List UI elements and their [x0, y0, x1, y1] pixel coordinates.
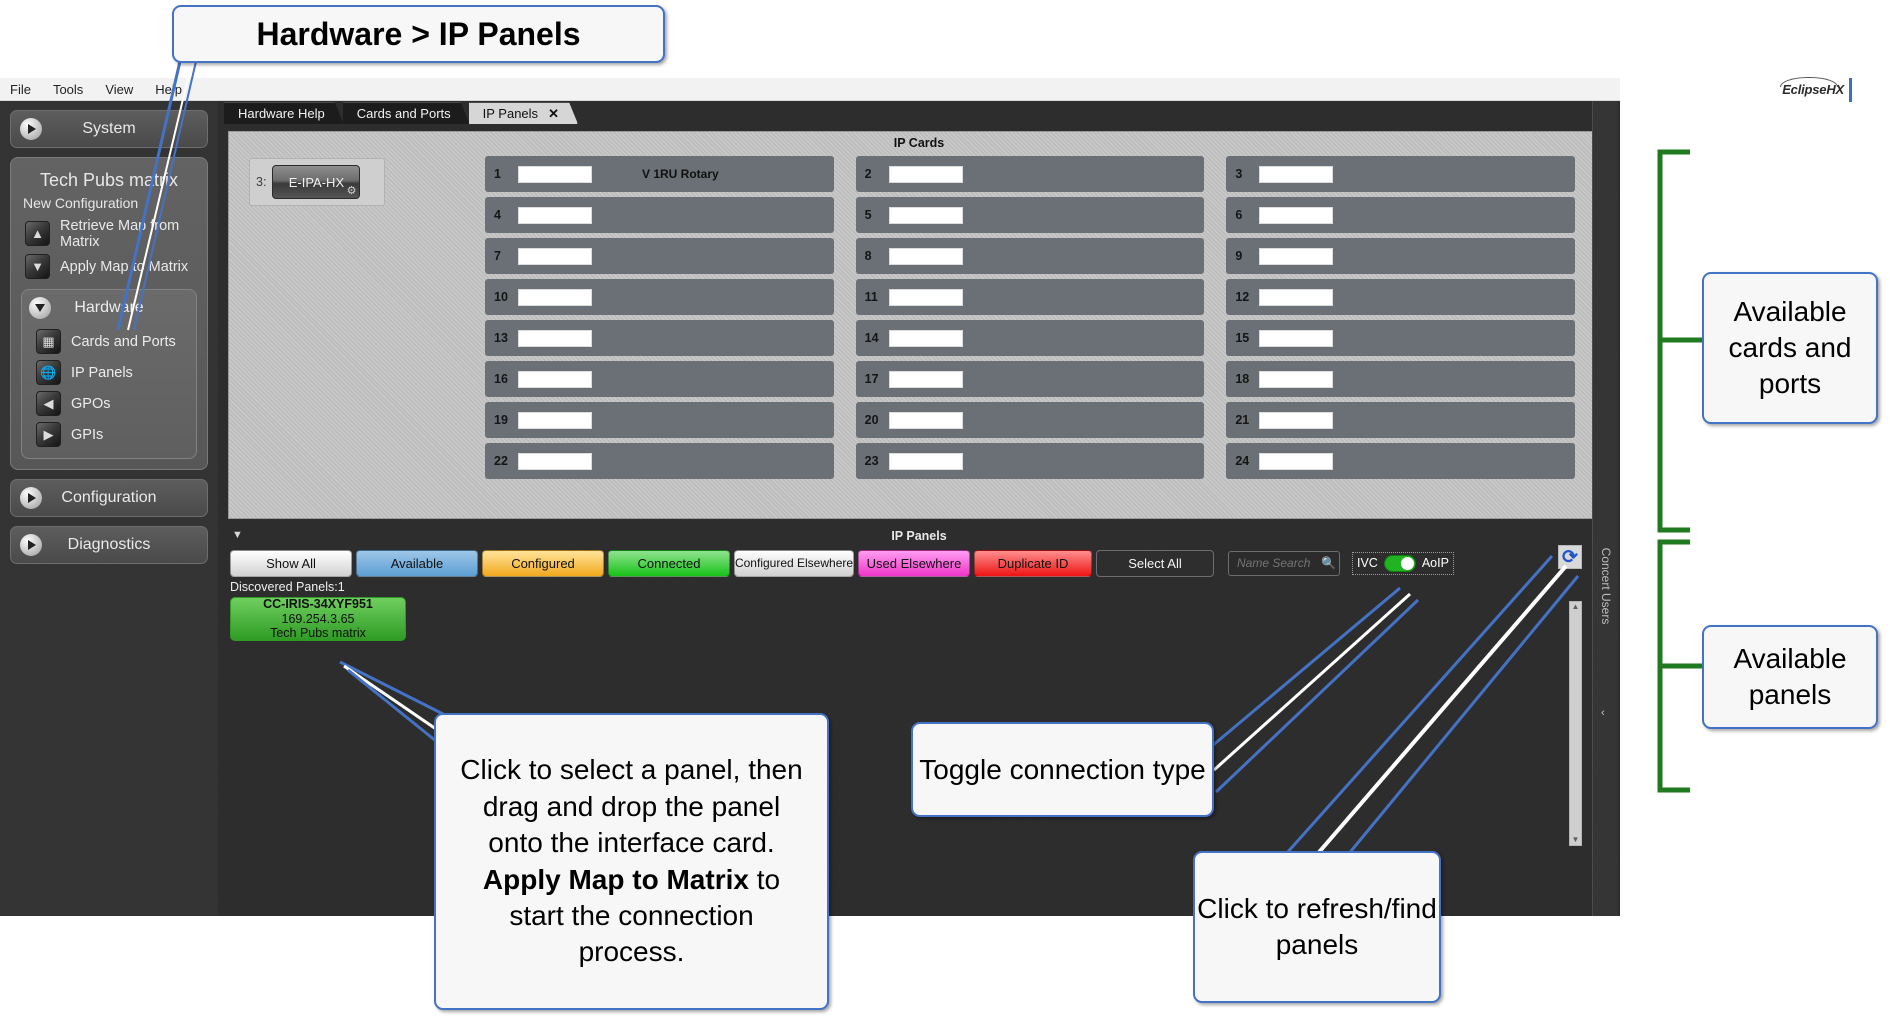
sidebar-item-apply-map[interactable]: ▼ Apply Map to Matrix	[11, 250, 207, 283]
port-slot[interactable]: 12	[1226, 279, 1575, 315]
sidebar-item-retrieve-map[interactable]: ▲ Retrieve Map from Matrix	[11, 217, 207, 250]
panel-name: CC-IRIS-34XYF951	[263, 597, 373, 611]
port-number: 18	[1235, 372, 1259, 386]
left-sidebar: System Tech Pubs matrix New Configuratio…	[0, 101, 218, 916]
port-name-field[interactable]	[889, 330, 963, 347]
menu-item-help[interactable]: Help	[155, 82, 182, 97]
callout-select-panel-text-bold: Apply Map to Matrix	[483, 864, 749, 895]
port-name-field[interactable]	[889, 412, 963, 429]
port-name-field[interactable]	[1259, 453, 1333, 470]
menu-item-view[interactable]: View	[105, 82, 133, 97]
port-slot[interactable]: 18	[1226, 361, 1575, 397]
callout-available-cards: Available cards and ports	[1702, 272, 1878, 424]
card-slot-number: 3:	[256, 175, 266, 189]
port-number: 22	[494, 454, 518, 468]
port-slot[interactable]: 22	[485, 443, 834, 479]
gear-icon[interactable]: ⚙	[347, 184, 357, 197]
sidebar-item-ip-panels-label: IP Panels	[71, 365, 133, 381]
filter-show-all-button[interactable]: Show All	[230, 550, 352, 577]
scroll-up-icon[interactable]: ▲	[1572, 602, 1580, 612]
expand-collapse-icon	[20, 487, 42, 509]
port-number: 15	[1235, 331, 1259, 345]
close-icon[interactable]: ✕	[548, 106, 559, 122]
connection-type-toggle[interactable]: IVC AoIP	[1352, 552, 1454, 575]
retrieve-map-icon: ▲	[25, 221, 50, 246]
ip-panels-toolbar: Show All Available Configured Connected …	[230, 549, 1610, 577]
cards-ports-icon: ▦	[36, 329, 61, 354]
port-slot[interactable]: 15	[1226, 320, 1575, 356]
port-slot[interactable]: 6	[1226, 197, 1575, 233]
select-all-button[interactable]: Select All	[1096, 550, 1214, 577]
port-number: 10	[494, 290, 518, 304]
port-name-field[interactable]	[1259, 248, 1333, 265]
port-number: 24	[1235, 454, 1259, 468]
port-number: 20	[865, 413, 889, 427]
menu-item-file[interactable]: File	[10, 82, 31, 97]
menu-item-tools[interactable]: Tools	[53, 82, 83, 97]
eclipsehx-logo: EclipseHX	[1782, 82, 1844, 97]
sidebar-item-cards-and-ports[interactable]: ▦ Cards and Ports	[22, 326, 196, 357]
apply-map-icon: ▼	[25, 254, 50, 279]
port-name-field[interactable]	[889, 166, 963, 183]
port-number: 7	[494, 249, 518, 263]
callout-refresh-panels: Click to refresh/find panels	[1193, 851, 1441, 1003]
port-name-field[interactable]	[1259, 207, 1333, 224]
expand-collapse-icon	[20, 534, 42, 556]
callout-select-panel-text-pre: Click to select a panel, then drag and d…	[460, 754, 802, 858]
tab-hardware-help[interactable]: Hardware Help	[224, 102, 344, 124]
port-name-field[interactable]	[518, 166, 592, 183]
tab-hardware-help-label: Hardware Help	[238, 106, 325, 121]
sidebar-item-apply-map-label: Apply Map to Matrix	[60, 259, 188, 275]
search-input[interactable]	[1235, 555, 1317, 571]
port-name-field[interactable]	[1259, 371, 1333, 388]
filter-configured-button[interactable]: Configured	[482, 550, 604, 577]
callout-breadcrumb: Hardware > IP Panels	[172, 5, 665, 63]
port-number: 19	[494, 413, 518, 427]
name-search-field[interactable]: 🔍	[1228, 551, 1340, 576]
tab-cards-and-ports[interactable]: Cards and Ports	[343, 102, 470, 124]
port-number: 9	[1235, 249, 1259, 263]
toggle-label-ivc: IVC	[1357, 556, 1378, 570]
port-slot[interactable]: 13	[485, 320, 834, 356]
tab-ip-panels[interactable]: IP Panels ✕	[469, 102, 578, 124]
gpi-icon: ▶	[36, 422, 61, 447]
filter-used-elsewhere-button[interactable]: Used Elsewhere	[858, 550, 970, 577]
matrix-title: Tech Pubs matrix	[11, 166, 207, 193]
port-name-field[interactable]	[889, 453, 963, 470]
switch-knob	[1401, 557, 1414, 570]
sidebar-section-configuration[interactable]: Configuration	[10, 479, 208, 517]
sidebar-section-diagnostics-label: Diagnostics	[68, 536, 151, 554]
gpo-icon: ◀	[36, 391, 61, 416]
sidebar-item-gpos-label: GPOs	[71, 396, 110, 412]
sidebar-item-retrieve-map-label: Retrieve Map from Matrix	[60, 218, 207, 250]
port-number: 13	[494, 331, 518, 345]
port-number: 21	[1235, 413, 1259, 427]
port-type-label: V 1RU Rotary	[642, 167, 719, 181]
port-name-field[interactable]	[889, 289, 963, 306]
port-slot[interactable]: 8	[856, 238, 1205, 274]
chevron-left-icon[interactable]: ‹	[1601, 707, 1605, 719]
port-slot[interactable]: 11	[856, 279, 1205, 315]
ip-cards-pane: IP Cards 3: E-IPA-HX ⚙ 1V 1RU Rotary2345…	[228, 131, 1610, 519]
matrix-group: Tech Pubs matrix New Configuration ▲ Ret…	[10, 157, 208, 470]
port-name-field[interactable]	[889, 207, 963, 224]
port-number: 11	[865, 290, 889, 304]
card-slot-container[interactable]: 3: E-IPA-HX ⚙	[249, 158, 385, 206]
bracket-available-panels	[1660, 542, 1690, 790]
sidebar-item-ip-panels[interactable]: 🌐 IP Panels	[22, 357, 196, 388]
sidebar-section-system-label: System	[82, 120, 135, 138]
tab-cards-and-ports-label: Cards and Ports	[357, 106, 451, 121]
menu-bar: File Tools View Help	[0, 78, 1620, 101]
concert-users-drawer[interactable]: Concert Users ‹	[1592, 101, 1618, 916]
sidebar-item-gpis[interactable]: ▶ GPIs	[22, 419, 196, 450]
callout-toggle-connection: Toggle connection type	[911, 722, 1214, 817]
filter-connected-button[interactable]: Connected	[608, 550, 730, 577]
sidebar-item-gpos[interactable]: ◀ GPOs	[22, 388, 196, 419]
port-number: 3	[1235, 167, 1259, 181]
callout-available-panels: Available panels	[1702, 625, 1878, 729]
port-slot[interactable]: 2	[856, 156, 1205, 192]
card-slot-name: E-IPA-HX	[289, 175, 344, 190]
ip-panels-title: IP Panels	[218, 529, 1620, 543]
panel-matrix-name: Tech Pubs matrix	[270, 626, 366, 640]
bracket-available-cards	[1660, 152, 1690, 530]
ip-cards-title: IP Cards	[229, 132, 1609, 150]
port-slot[interactable]: 5	[856, 197, 1205, 233]
port-slot[interactable]: 4	[485, 197, 834, 233]
expand-collapse-icon	[20, 118, 42, 140]
discovered-panel-card[interactable]: CC-IRIS-34XYF951 169.254.3.65 Tech Pubs …	[230, 597, 406, 641]
port-slot[interactable]: 19	[485, 402, 834, 438]
port-slot[interactable]: 1V 1RU Rotary	[485, 156, 834, 192]
ip-panels-scrollbar[interactable]: ▲ ▼	[1569, 601, 1582, 846]
port-name-field[interactable]	[518, 330, 592, 347]
port-number: 14	[865, 331, 889, 345]
filter-available-button[interactable]: Available	[356, 550, 478, 577]
port-number: 23	[865, 454, 889, 468]
port-number: 6	[1235, 208, 1259, 222]
sidebar-section-hardware-label: Hardware	[74, 299, 143, 317]
port-grid: 1V 1RU Rotary234567891011121314151617181…	[485, 156, 1575, 456]
sidebar-section-system[interactable]: System	[10, 110, 208, 148]
concert-users-label: Concert Users	[1599, 548, 1613, 625]
search-icon[interactable]: 🔍	[1321, 556, 1336, 570]
collapse-icon	[29, 297, 51, 319]
port-slot[interactable]: 10	[485, 279, 834, 315]
panel-ip-address: 169.254.3.65	[282, 612, 355, 626]
port-slot[interactable]: 24	[1226, 443, 1575, 479]
port-slot[interactable]: 9	[1226, 238, 1575, 274]
refresh-icon[interactable]: ⟳	[1558, 545, 1582, 569]
port-name-field[interactable]	[518, 207, 592, 224]
port-name-field[interactable]	[889, 248, 963, 265]
port-slot[interactable]: 7	[485, 238, 834, 274]
tab-strip: Hardware Help Cards and Ports IP Panels …	[218, 101, 1620, 124]
port-slot[interactable]: 17	[856, 361, 1205, 397]
port-number: 4	[494, 208, 518, 222]
port-name-field[interactable]	[1259, 289, 1333, 306]
discovered-panels-count: Discovered Panels:1	[230, 580, 345, 594]
port-slot[interactable]: 21	[1226, 402, 1575, 438]
port-slot[interactable]: 20	[856, 402, 1205, 438]
port-name-field[interactable]	[1259, 330, 1333, 347]
brand-accent-bar	[1849, 78, 1852, 102]
sidebar-item-cards-and-ports-label: Cards and Ports	[71, 334, 176, 350]
port-name-field[interactable]	[518, 371, 592, 388]
port-number: 1	[494, 167, 518, 181]
sidebar-item-gpis-label: GPIs	[71, 427, 103, 443]
card-slot-button[interactable]: E-IPA-HX ⚙	[272, 165, 360, 199]
port-name-field[interactable]	[518, 453, 592, 470]
port-name-field[interactable]	[518, 289, 592, 306]
matrix-subtitle: New Configuration	[11, 193, 207, 217]
toggle-label-aoip: AoIP	[1422, 556, 1449, 570]
port-slot[interactable]: 14	[856, 320, 1205, 356]
filter-duplicate-id-button[interactable]: Duplicate ID	[974, 550, 1092, 577]
port-number: 2	[865, 167, 889, 181]
port-slot[interactable]: 23	[856, 443, 1205, 479]
scroll-down-icon[interactable]: ▼	[1572, 835, 1580, 845]
port-name-field[interactable]	[518, 248, 592, 265]
port-number: 12	[1235, 290, 1259, 304]
sidebar-section-hardware[interactable]: Hardware	[22, 290, 196, 326]
port-slot[interactable]: 16	[485, 361, 834, 397]
port-number: 5	[865, 208, 889, 222]
port-name-field[interactable]	[889, 371, 963, 388]
port-number: 17	[865, 372, 889, 386]
port-number: 16	[494, 372, 518, 386]
sidebar-section-diagnostics[interactable]: Diagnostics	[10, 526, 208, 564]
port-number: 8	[865, 249, 889, 263]
port-name-field[interactable]	[1259, 412, 1333, 429]
connection-switch[interactable]	[1384, 555, 1416, 572]
sidebar-group-hardware: Hardware ▦ Cards and Ports 🌐 IP Panels ◀…	[21, 289, 197, 459]
port-slot[interactable]: 3	[1226, 156, 1575, 192]
callout-select-panel: Click to select a panel, then drag and d…	[434, 713, 829, 1010]
port-name-field[interactable]	[1259, 166, 1333, 183]
port-name-field[interactable]	[518, 412, 592, 429]
tab-ip-panels-label: IP Panels	[483, 106, 538, 121]
ip-panels-icon: 🌐	[36, 360, 61, 385]
filter-configured-elsewhere-button[interactable]: Configured Elsewhere	[734, 550, 854, 577]
sidebar-section-configuration-label: Configuration	[61, 489, 156, 507]
